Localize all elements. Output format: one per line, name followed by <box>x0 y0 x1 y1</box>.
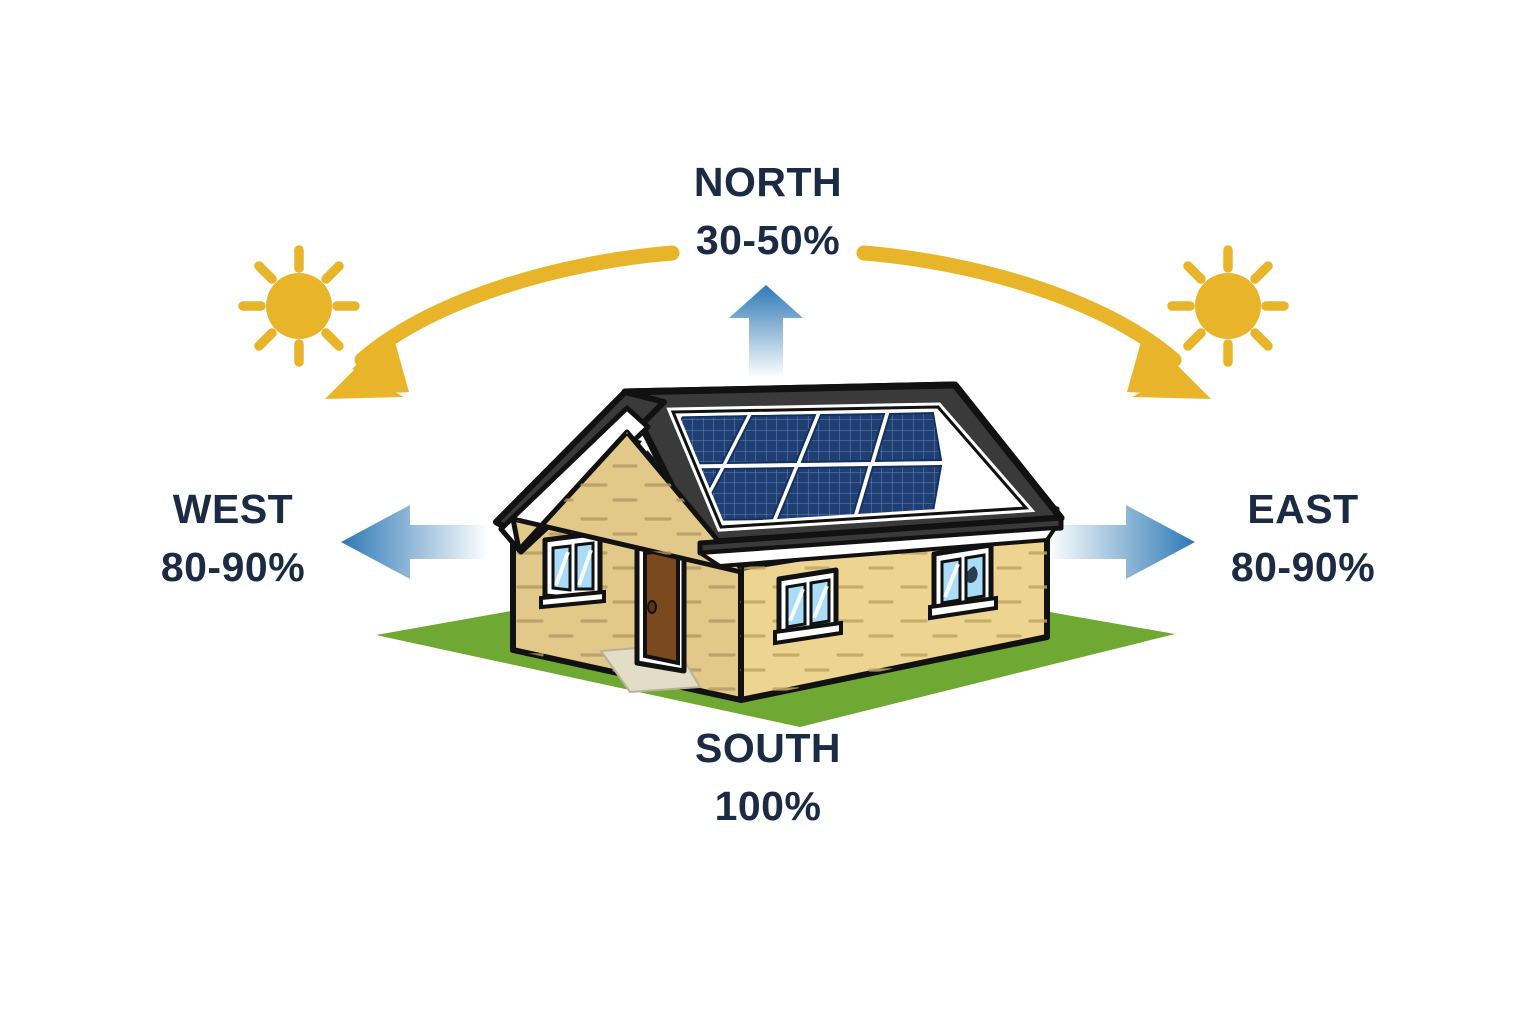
window-side-left <box>775 570 841 643</box>
direction-label-south: SOUTH 100% <box>588 726 948 830</box>
sun-icon-east <box>1172 250 1284 362</box>
window-side-right <box>930 545 996 618</box>
direction-name-north: NORTH <box>588 160 948 206</box>
direction-value-east: 80-90% <box>1168 545 1438 591</box>
diagram-canvas: NORTH 30-50% EAST 80-90% SOUTH 100% WEST… <box>0 0 1536 1024</box>
direction-name-south: SOUTH <box>588 726 948 772</box>
direction-label-west: WEST 80-90% <box>98 487 368 591</box>
arrow-up-icon <box>729 285 803 378</box>
direction-value-west: 80-90% <box>98 545 368 591</box>
sun-path-arc-east <box>864 253 1211 399</box>
sun-path-arc-west <box>325 253 672 399</box>
direction-name-east: EAST <box>1168 487 1438 533</box>
direction-label-east: EAST 80-90% <box>1168 487 1438 591</box>
sun-icon-west <box>243 250 355 362</box>
house-with-solar-panels <box>496 385 1061 700</box>
window-front <box>541 533 604 607</box>
direction-label-north: NORTH 30-50% <box>588 160 948 264</box>
direction-value-south: 100% <box>588 784 948 830</box>
direction-value-north: 30-50% <box>588 218 948 264</box>
direction-name-west: WEST <box>98 487 368 533</box>
